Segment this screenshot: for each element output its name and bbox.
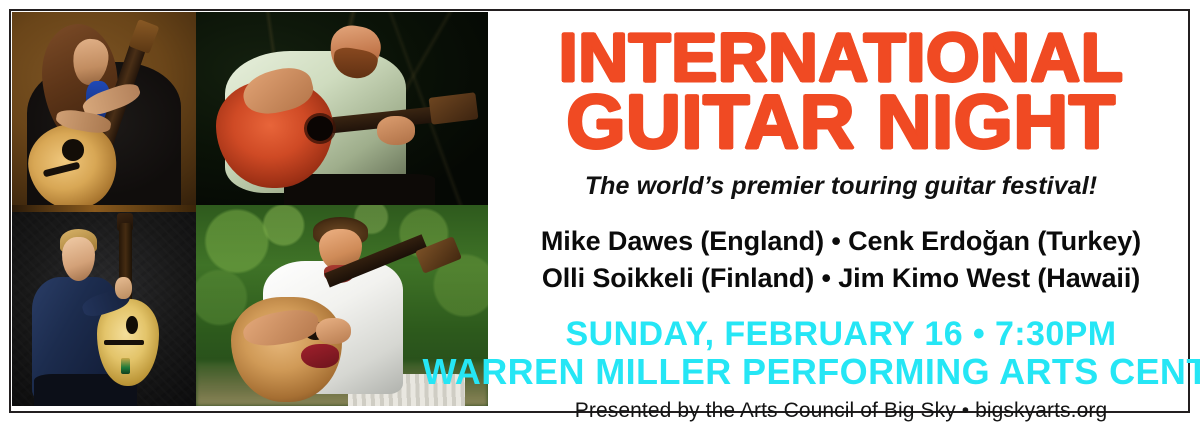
hand-shape <box>115 277 132 299</box>
event-date-time: SUNDAY, FEBRUARY 16 • 7:30PM <box>422 316 1200 353</box>
performer-photo-bottom-left <box>12 205 196 406</box>
performer-photo-top-right <box>196 12 488 205</box>
guitar-headstock-shape <box>129 19 160 54</box>
event-title: INTERNATIONAL GUITAR NIGHT <box>492 25 1190 160</box>
performer-photo-top-left <box>12 12 196 205</box>
poster-text-panel: INTERNATIONAL GUITAR NIGHT The world’s p… <box>492 9 1190 413</box>
guitar-soundhole-shape <box>126 316 138 334</box>
performer-lineup: Mike Dawes (England) • Cenk Erdoğan (Tur… <box>541 223 1141 296</box>
guitar-headstock-shape <box>428 92 478 125</box>
guitar-pickguard-shape <box>301 344 339 368</box>
guitar-bridge-shape <box>104 340 144 345</box>
event-poster-banner: INTERNATIONAL GUITAR NIGHT The world’s p… <box>0 0 1200 424</box>
title-line-guitar-night: GUITAR NIGHT <box>492 87 1190 160</box>
right-hand-shape <box>316 318 351 344</box>
performer-photo-collage <box>12 12 488 406</box>
guitar-soundhole-shape <box>62 139 84 160</box>
presenter-credit: Presented by the Arts Council of Big Sky… <box>575 399 1107 423</box>
guitar-tailpiece-shape <box>121 358 130 374</box>
performer-line-1: Mike Dawes (England) • Cenk Erdoğan (Tur… <box>541 223 1141 259</box>
event-tagline: The world’s premier touring guitar festi… <box>585 172 1097 201</box>
event-details: SUNDAY, FEBRUARY 16 • 7:30PM WARREN MILL… <box>422 316 1200 391</box>
legs-shape <box>284 174 436 205</box>
backdrop-top-strip <box>12 205 196 212</box>
right-hand-shape <box>377 116 415 145</box>
event-venue: WARREN MILLER PERFORMING ARTS CENTER <box>422 353 1200 391</box>
performer-line-2: Olli Soikkeli (Finland) • Jim Kimo West … <box>541 260 1141 296</box>
